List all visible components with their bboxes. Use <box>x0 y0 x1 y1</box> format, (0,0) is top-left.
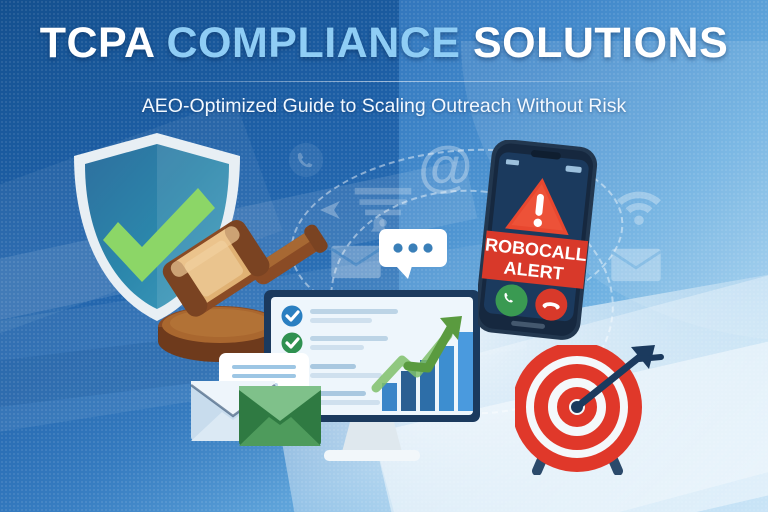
title-part-tcpa: TCPA <box>40 19 154 67</box>
at-symbol-icon: @ <box>418 138 473 194</box>
title-divider <box>99 81 669 82</box>
wifi-icon <box>610 182 668 226</box>
chat-bubble-dots <box>378 228 448 280</box>
title-part-compliance: COMPLIANCE <box>166 19 460 67</box>
monitor-stand <box>342 422 402 452</box>
monitor-base <box>324 450 420 461</box>
envelope-icon <box>610 245 662 283</box>
smartphone-robocall-alert: ROBOCALL ALERT <box>478 140 600 340</box>
envelope-green <box>238 385 322 447</box>
dartboard-target-icon <box>515 345 665 475</box>
phone-handset-icon <box>288 142 324 178</box>
page-subtitle: AEO-Optimized Guide to Scaling Outreach … <box>0 95 768 118</box>
header-block: TCPA COMPLIANCE SOLUTIONS AEO-Optimized … <box>0 22 768 118</box>
title-part-solutions: SOLUTIONS <box>473 19 728 67</box>
page-title: TCPA COMPLIANCE SOLUTIONS <box>0 22 768 65</box>
hero-banner: @ TCPA COMPLIANCE SOLUTIONS <box>0 0 768 512</box>
